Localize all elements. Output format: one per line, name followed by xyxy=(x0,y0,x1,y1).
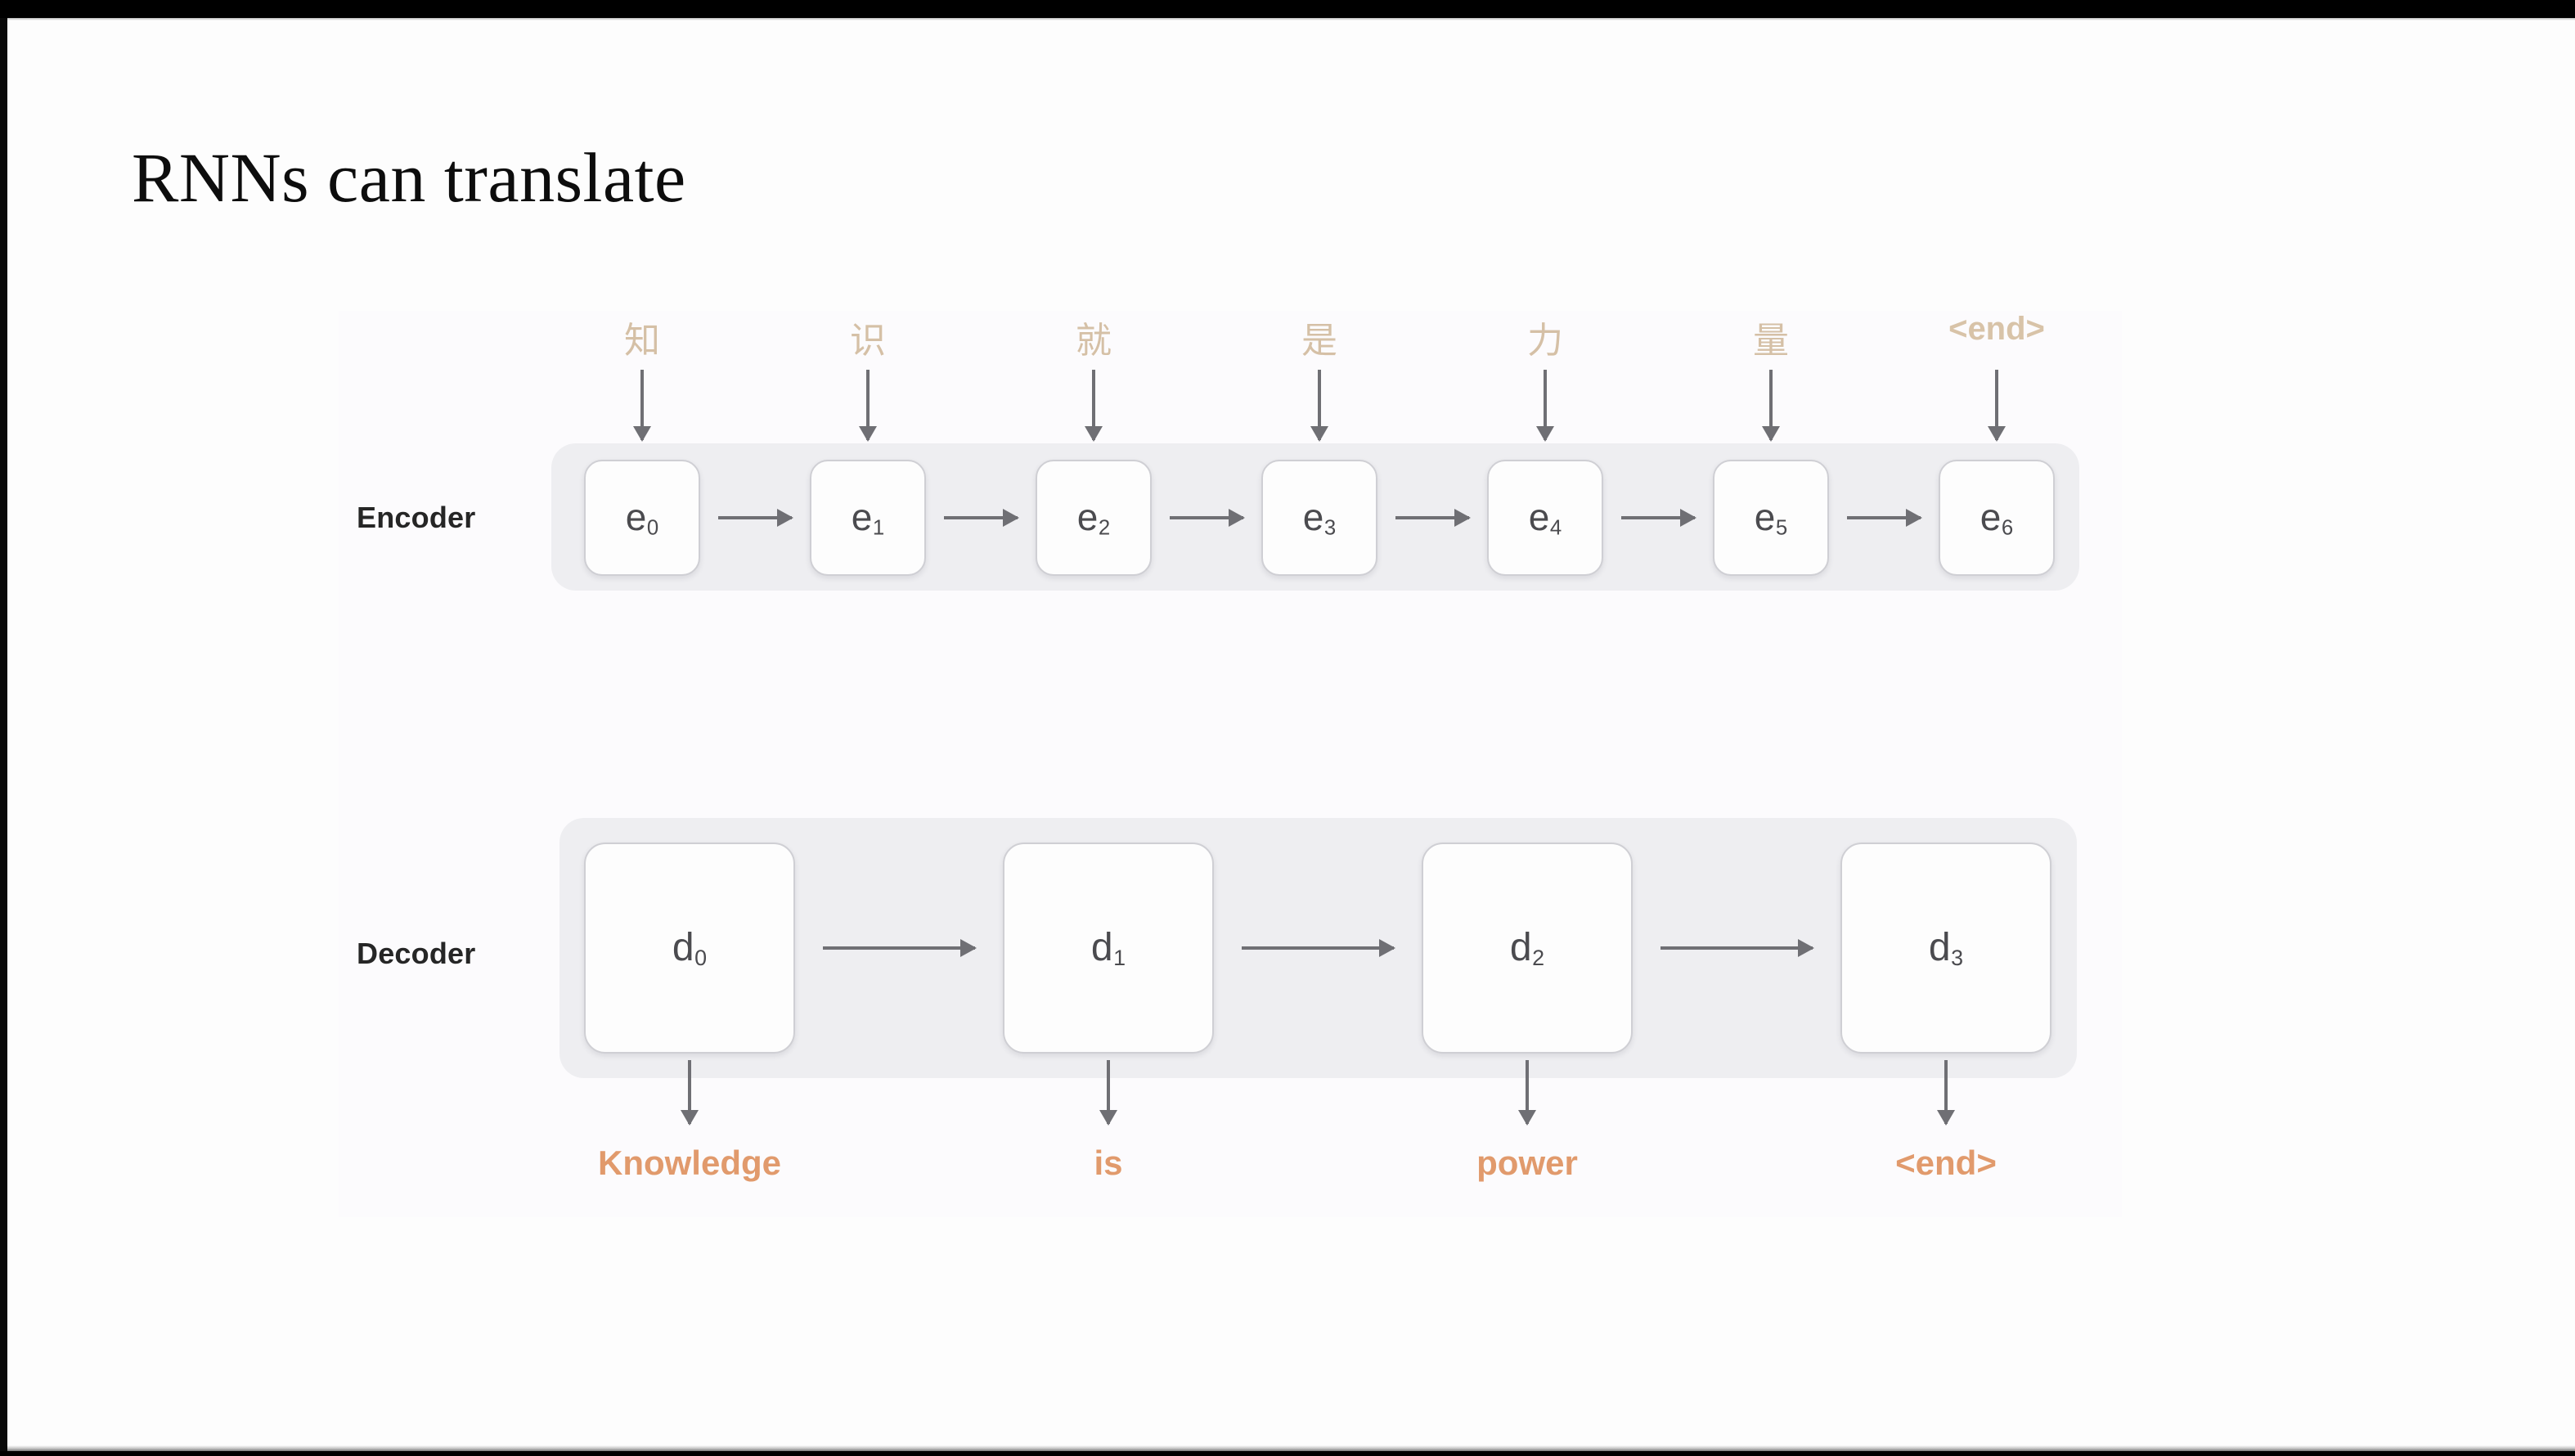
encoder-cell-e0[interactable]: e0 xyxy=(584,460,700,576)
source-token-1: 识 xyxy=(850,311,886,363)
encoder-recurrent-arrow-4 xyxy=(1621,516,1695,519)
decoder-output-arrow-0 xyxy=(688,1060,691,1124)
arrow-head xyxy=(1379,939,1395,957)
arrow-head xyxy=(1229,509,1245,527)
encoder-recurrent-arrow-2 xyxy=(1170,516,1243,519)
arrow-head xyxy=(1536,426,1554,442)
encoder-input-arrow-1 xyxy=(866,370,870,440)
decoder-output-arrow-1 xyxy=(1107,1060,1110,1124)
arrow-head xyxy=(1680,509,1696,527)
encoder-input-arrow-6 xyxy=(1995,370,1998,440)
decoder-recurrent-arrow-1 xyxy=(1242,946,1394,950)
decoder-output-arrow-3 xyxy=(1944,1060,1948,1124)
arrow-head xyxy=(1988,426,2006,442)
arrow-head xyxy=(1906,509,1922,527)
encoder-input-arrow-3 xyxy=(1318,370,1321,440)
source-token-0: 知 xyxy=(624,311,660,363)
encoder-cell-e6[interactable]: e6 xyxy=(1939,460,2055,576)
arrow-head xyxy=(1085,426,1103,442)
source-token-3: 是 xyxy=(1301,311,1337,363)
cell-label: e6 xyxy=(1980,495,2013,541)
decoder-output-arrow-2 xyxy=(1526,1060,1529,1124)
encoder-label: Encoder xyxy=(357,501,475,535)
decoder-recurrent-arrow-2 xyxy=(1660,946,1813,950)
cell-label: d1 xyxy=(1091,925,1126,971)
arrow-shaft xyxy=(823,946,975,950)
arrow-head xyxy=(1310,426,1328,442)
arrow-head xyxy=(1454,509,1471,527)
page-title: RNNs can translate xyxy=(132,141,686,214)
cell-label: d3 xyxy=(1929,925,1963,971)
arrow-head xyxy=(1099,1110,1117,1126)
arrow-head xyxy=(1798,939,1814,957)
cell-label: e1 xyxy=(852,495,884,541)
slide-bottom-divider xyxy=(7,1445,2575,1451)
decoder-recurrent-arrow-0 xyxy=(823,946,975,950)
letterbox-bar-top xyxy=(0,0,2575,18)
arrow-shaft xyxy=(1242,946,1394,950)
arrow-head xyxy=(1003,509,1019,527)
cell-label: e4 xyxy=(1529,495,1562,541)
source-token-2: 就 xyxy=(1076,311,1112,363)
cell-label: d0 xyxy=(672,925,707,971)
arrow-head xyxy=(1518,1110,1536,1126)
arrow-head xyxy=(960,939,977,957)
cell-label: e3 xyxy=(1303,495,1336,541)
encoder-input-arrow-0 xyxy=(640,370,644,440)
arrow-head xyxy=(1762,426,1780,442)
encoder-input-arrow-2 xyxy=(1092,370,1095,440)
arrow-head xyxy=(859,426,877,442)
source-token-4: 力 xyxy=(1527,311,1563,363)
source-token-5: 量 xyxy=(1753,311,1789,363)
encoder-decoder-diagram: Encoder Decoder e0知e1识e2就e3是e4力e5量e6<end… xyxy=(339,311,2122,1217)
letterbox-bar-bottom xyxy=(0,1451,2575,1456)
encoder-recurrent-arrow-0 xyxy=(718,516,792,519)
source-token-6: <end> xyxy=(1948,311,2045,348)
encoder-cell-e2[interactable]: e2 xyxy=(1036,460,1152,576)
output-token-1: is xyxy=(1094,1144,1122,1183)
slide-top-divider xyxy=(7,18,2575,20)
arrow-shaft xyxy=(1660,946,1813,950)
encoder-recurrent-arrow-5 xyxy=(1847,516,1921,519)
arrow-head xyxy=(1937,1110,1955,1126)
output-token-2: power xyxy=(1476,1144,1578,1183)
slide-frame: RNNs can translate Encoder Decoder e0知e1… xyxy=(0,0,2575,1456)
decoder-label: Decoder xyxy=(357,937,475,971)
cell-label: e5 xyxy=(1755,495,1787,541)
encoder-cell-e1[interactable]: e1 xyxy=(810,460,926,576)
arrow-head xyxy=(633,426,651,442)
decoder-cell-d1[interactable]: d1 xyxy=(1003,843,1214,1054)
arrow-head xyxy=(681,1110,699,1126)
letterbox-bar-left xyxy=(0,18,7,1451)
decoder-cell-d3[interactable]: d3 xyxy=(1840,843,2051,1054)
output-token-0: Knowledge xyxy=(598,1144,781,1183)
cell-label: e0 xyxy=(626,495,658,541)
encoder-input-arrow-4 xyxy=(1544,370,1547,440)
slide-canvas: RNNs can translate Encoder Decoder e0知e1… xyxy=(7,18,2575,1451)
encoder-input-arrow-5 xyxy=(1769,370,1773,440)
output-token-3: <end> xyxy=(1895,1144,1997,1183)
arrow-head xyxy=(777,509,793,527)
cell-label: d2 xyxy=(1510,925,1544,971)
encoder-cell-e4[interactable]: e4 xyxy=(1487,460,1603,576)
encoder-cell-e5[interactable]: e5 xyxy=(1713,460,1829,576)
encoder-recurrent-arrow-3 xyxy=(1395,516,1469,519)
decoder-cell-d0[interactable]: d0 xyxy=(584,843,795,1054)
cell-label: e2 xyxy=(1077,495,1110,541)
encoder-cell-e3[interactable]: e3 xyxy=(1261,460,1377,576)
encoder-recurrent-arrow-1 xyxy=(944,516,1018,519)
decoder-cell-d2[interactable]: d2 xyxy=(1422,843,1633,1054)
